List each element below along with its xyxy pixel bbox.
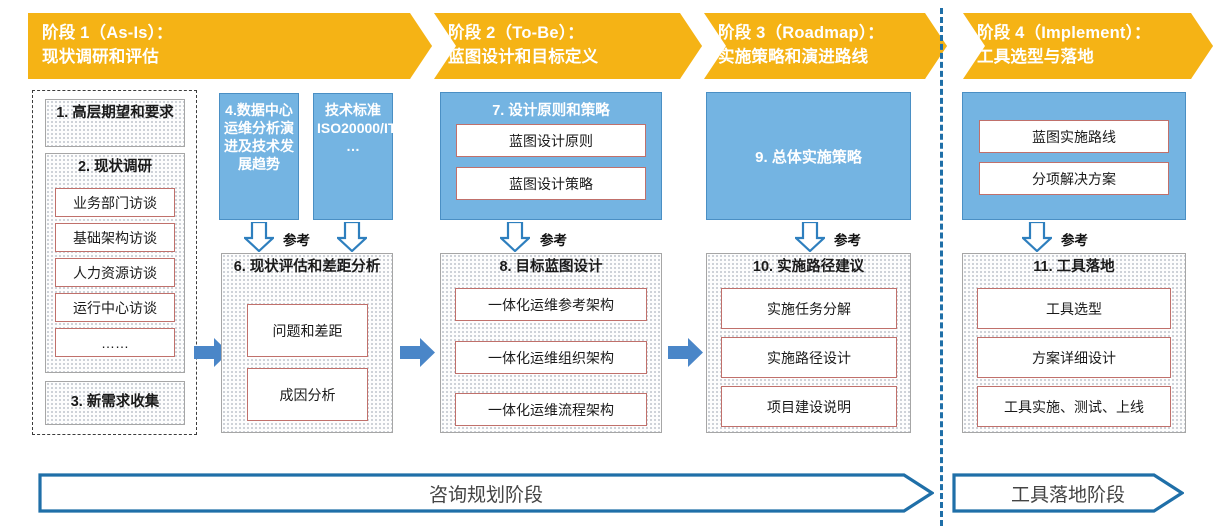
bottom-banner-tooling[interactable]: 工具落地阶段 — [952, 473, 1184, 513]
col1-box-2-item-0[interactable]: 业务部门访谈 — [55, 188, 175, 217]
col1-box-2-title: 2. 现状调研 — [46, 154, 184, 177]
bottom-banner-left-label: 咨询规划阶段 — [429, 480, 543, 507]
phase-banner-2[interactable]: 阶段 2（To-Be）： 蓝图设计和目标定义 — [434, 13, 702, 79]
col1-box-2-item-4[interactable]: …… — [55, 328, 175, 357]
arrow-col2-to-col3 — [400, 337, 436, 369]
col5-box-11-title: 11. 工具落地 — [963, 254, 1185, 277]
phase-1-line2: 现状调研和评估 — [42, 46, 432, 70]
col1-item-label: …… — [101, 335, 129, 351]
col3-item-label: 蓝图设计策略 — [509, 174, 593, 194]
col5-box-top-item-1[interactable]: 分项解决方案 — [979, 162, 1169, 195]
bottom-banner-consulting[interactable]: 咨询规划阶段 — [38, 473, 934, 513]
col2-box-4[interactable]: 4.数据中心运维分析演进及技术发展趋势 — [219, 93, 299, 220]
col4-box-10-item-0[interactable]: 实施任务分解 — [721, 288, 897, 329]
phase-4-line1: 阶段 4（Implement）： — [977, 22, 1213, 46]
col2-box-4-text: 4.数据中心运维分析演进及技术发展趋势 — [220, 94, 298, 174]
ref-label-col2: 参考 — [283, 229, 310, 249]
section-divider — [940, 8, 943, 526]
col3-item-label: 一体化运维组织架构 — [488, 348, 614, 368]
phase-2-line2: 蓝图设计和目标定义 — [448, 46, 702, 70]
col5-box-top[interactable] — [962, 92, 1186, 220]
col4-item-label: 实施任务分解 — [767, 299, 851, 319]
phase-banner-4[interactable]: 阶段 4（Implement）： 工具选型与落地 — [963, 13, 1213, 79]
col3-item-label: 一体化运维参考架构 — [488, 295, 614, 315]
col3-box-8-title: 8. 目标蓝图设计 — [441, 254, 661, 277]
col3-box-8-item-2[interactable]: 一体化运维流程架构 — [455, 393, 647, 426]
col3-box-8-item-1[interactable]: 一体化运维组织架构 — [455, 341, 647, 374]
phase-2-line1: 阶段 2（To-Be）： — [448, 22, 702, 46]
col5-box-11-item-0[interactable]: 工具选型 — [977, 288, 1171, 329]
col1-item-label: 业务部门访谈 — [73, 193, 157, 213]
col4-item-label: 项目建设说明 — [767, 397, 851, 417]
col1-box-2-item-3[interactable]: 运行中心访谈 — [55, 293, 175, 322]
col2-standards-text: 技术标准ISO20000/ITSS/ITIL… … — [314, 94, 392, 156]
col5-item-label: 工具选型 — [1046, 299, 1102, 319]
col2-box-6-item-0[interactable]: 问题和差距 — [247, 304, 368, 357]
phase-banner-3[interactable]: 阶段 3（Roadmap）： 实施策略和演进路线 — [704, 13, 947, 79]
col5-box-top-item-0[interactable]: 蓝图实施路线 — [979, 120, 1169, 153]
col2-box-6-title: 6. 现状评估和差距分析 — [222, 254, 392, 277]
bottom-banner-right-label: 工具落地阶段 — [1011, 480, 1125, 507]
ref-label-col5: 参考 — [1061, 229, 1088, 249]
down-arrow-col2-left — [244, 222, 274, 252]
col4-box-9-title: 9. 总体实施策略 — [755, 146, 862, 167]
col4-box-9[interactable]: 9. 总体实施策略 — [706, 92, 911, 220]
down-arrow-col2-right — [337, 222, 367, 252]
col2-item-label: 问题和差距 — [273, 321, 343, 341]
col1-box-2-item-2[interactable]: 人力资源访谈 — [55, 258, 175, 287]
phase-3-line2: 实施策略和演进路线 — [718, 46, 947, 70]
down-arrow-col3 — [500, 222, 530, 252]
phase-1-line1: 阶段 1（As-Is）： — [42, 22, 432, 46]
col1-item-label: 基础架构访谈 — [73, 228, 157, 248]
col1-item-label: 人力资源访谈 — [73, 263, 157, 283]
col5-box-11-item-2[interactable]: 工具实施、测试、上线 — [977, 386, 1171, 427]
col1-box-3-title: 3. 新需求收集 — [71, 394, 160, 412]
col5-item-label: 蓝图实施路线 — [1032, 127, 1116, 147]
col3-box-7-item-0[interactable]: 蓝图设计原则 — [456, 124, 646, 157]
col4-box-10-title: 10. 实施路径建议 — [707, 254, 910, 277]
col2-standards-box[interactable]: 技术标准ISO20000/ITSS/ITIL… … — [313, 93, 393, 220]
col1-box-2-item-1[interactable]: 基础架构访谈 — [55, 223, 175, 252]
down-arrow-col4 — [795, 222, 825, 252]
col1-item-label: 运行中心访谈 — [73, 298, 157, 318]
col3-box-7-title: 7. 设计原则和策略 — [441, 93, 661, 120]
col5-item-label: 工具实施、测试、上线 — [1004, 397, 1144, 417]
col3-box-7-item-1[interactable]: 蓝图设计策略 — [456, 167, 646, 200]
arrow-col3-to-col4 — [668, 337, 704, 369]
col3-item-label: 一体化运维流程架构 — [488, 400, 614, 420]
col2-box-6-item-1[interactable]: 成因分析 — [247, 368, 368, 421]
diagram-canvas: 阶段 1（As-Is）： 现状调研和评估 阶段 2（To-Be）： 蓝图设计和目… — [0, 0, 1217, 530]
phase-banner-1[interactable]: 阶段 1（As-Is）： 现状调研和评估 — [28, 13, 432, 79]
ref-label-col4: 参考 — [834, 229, 861, 249]
phase-3-line1: 阶段 3（Roadmap）： — [718, 22, 947, 46]
col2-item-label: 成因分析 — [280, 385, 336, 405]
col1-box-1-title: 1. 高层期望和要求 — [46, 100, 184, 123]
col5-item-label: 方案详细设计 — [1032, 348, 1116, 368]
col5-item-label: 分项解决方案 — [1032, 169, 1116, 189]
phase-4-line2: 工具选型与落地 — [977, 46, 1213, 70]
ref-label-col3: 参考 — [540, 229, 567, 249]
col4-box-10-item-2[interactable]: 项目建设说明 — [721, 386, 897, 427]
down-arrow-col5 — [1022, 222, 1052, 252]
col3-box-8-item-0[interactable]: 一体化运维参考架构 — [455, 288, 647, 321]
col5-box-11-item-1[interactable]: 方案详细设计 — [977, 337, 1171, 378]
col3-item-label: 蓝图设计原则 — [509, 131, 593, 151]
col4-item-label: 实施路径设计 — [767, 348, 851, 368]
col1-box-1[interactable]: 1. 高层期望和要求 — [45, 99, 185, 147]
col4-box-10-item-1[interactable]: 实施路径设计 — [721, 337, 897, 378]
col1-box-3[interactable]: 3. 新需求收集 — [45, 381, 185, 425]
